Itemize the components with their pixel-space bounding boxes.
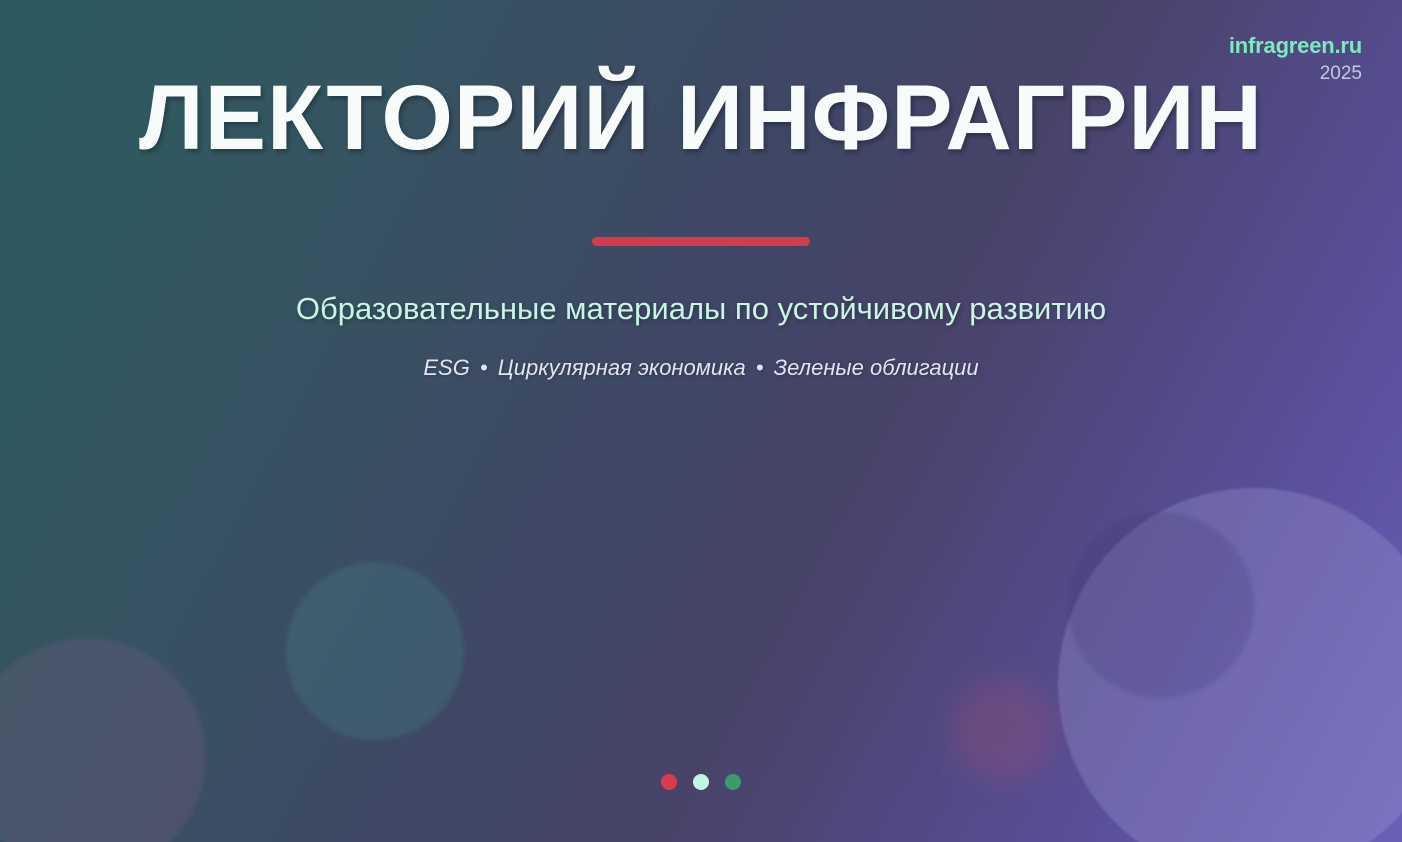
presentation-slide: infragreen.ru 2025 ЛЕКТОРИЙ ИНФРАГРИН Об…	[0, 0, 1402, 842]
tagline-separator-2: •	[752, 355, 768, 380]
slide-subtitle: Образовательные материалы по устойчивому…	[0, 291, 1402, 327]
pagination-dot-2[interactable]	[693, 774, 709, 790]
brand-website-label[interactable]: infragreen.ru	[1229, 34, 1362, 58]
decorative-circle-teal	[286, 562, 464, 740]
decorative-circle-mauve	[0, 638, 206, 842]
brand-corner: infragreen.ru 2025	[1229, 34, 1362, 85]
slide-tagline: ESG • Циркулярная экономика • Зеленые об…	[0, 355, 1402, 381]
tagline-item-esg: ESG	[423, 355, 469, 380]
brand-year-label: 2025	[1229, 64, 1362, 85]
pagination-dot-3[interactable]	[725, 774, 741, 790]
pagination-dot-1[interactable]	[661, 774, 677, 790]
pagination-dots	[0, 774, 1402, 790]
tagline-item-green-bonds: Зеленые облигации	[774, 355, 979, 380]
tagline-separator-1: •	[476, 355, 492, 380]
slide-title: ЛЕКТОРИЙ ИНФРАГРИН	[0, 66, 1402, 171]
tagline-item-circular-economy: Циркулярная экономика	[498, 355, 746, 380]
title-divider	[592, 237, 810, 246]
decorative-circle-rose	[952, 678, 1056, 782]
decorative-circle-purple-small	[1068, 512, 1254, 698]
